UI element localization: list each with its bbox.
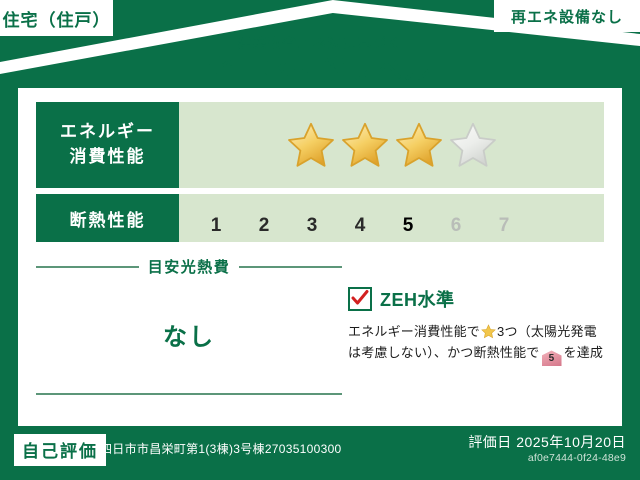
zeh-desc-part1: エネルギー消費性能で <box>348 324 480 339</box>
zeh-desc-star-count: 3つ（太陽光発電 <box>497 324 597 339</box>
zeh-desc-part3: を達成 <box>564 345 604 360</box>
heading-rule-right <box>239 266 342 268</box>
renewable-energy-tag: 再エネ設備なし <box>494 0 640 32</box>
insulation-step-3: 3 <box>289 202 335 238</box>
insulation-step-label: 6 <box>451 216 462 235</box>
star-icon-filled <box>287 121 335 169</box>
insulation-step-label: 4 <box>355 216 366 235</box>
label-title-block: 建築物省エネ法に基づく 省エネ性能ラベル <box>0 36 640 87</box>
energy-label-card: 住宅（住戸） 再エネ設備なし 建築物省エネ法に基づく 省エネ性能ラベル エネルギ… <box>0 0 640 480</box>
footer: 自己評価 四日市市昌栄町第1(3棟)3号棟27035100300 評価日 202… <box>0 426 640 480</box>
zeh-description: エネルギー消費性能で3つ（太陽光発電は考慮しない）、かつ断熱性能で5を達成 <box>348 321 616 366</box>
main-panel: エネルギー 消費性能 断熱性能 1234567 目安光熱費 なし <box>18 88 622 426</box>
insulation-step-1: 1 <box>193 202 239 238</box>
zeh-desc-part2: は考慮しない）、かつ断熱性能で <box>348 345 540 360</box>
zeh-checkbox[interactable] <box>348 287 372 311</box>
star-icon-empty <box>449 121 497 169</box>
evaluation-date: 評価日 2025年10月20日 <box>468 432 626 452</box>
utility-cost-section: 目安光熱費 なし <box>36 256 342 408</box>
heading-rule-left <box>36 266 139 268</box>
insulation-step-label: 1 <box>211 216 222 235</box>
star-rating <box>287 121 497 169</box>
insulation-row: 断熱性能 1234567 <box>36 194 604 242</box>
utility-cost-value: なし <box>36 317 342 352</box>
energy-consumption-label-line1: エネルギー <box>60 120 155 145</box>
insulation-step-label: 2 <box>259 216 270 235</box>
insulation-step-7: 7 <box>481 202 527 238</box>
star-icon-filled <box>395 121 443 169</box>
utility-cost-heading-row: 目安光熱費 <box>36 256 342 277</box>
energy-consumption-label-line2: 消費性能 <box>70 145 146 170</box>
insulation-step-label: 5 <box>403 216 414 235</box>
insulation-step-5: 5 <box>385 198 431 238</box>
energy-consumption-value <box>179 102 604 188</box>
insulation-step-6: 6 <box>433 202 479 238</box>
evaluation-id: af0e7444-0f24-48e9 <box>528 452 626 464</box>
utility-cost-heading: 目安光熱費 <box>148 256 231 277</box>
building-type-tag: 住宅（住戸） <box>0 0 113 36</box>
insulation-step-scale: 1234567 <box>193 198 527 238</box>
utility-cost-bottom-rule <box>36 393 342 395</box>
zeh-title: ZEH水準 <box>380 286 455 312</box>
energy-consumption-row: エネルギー 消費性能 <box>36 102 604 188</box>
zeh-desc-step-badge: 5 <box>542 350 562 366</box>
check-icon <box>351 289 369 307</box>
property-address: 四日市市昌栄町第1(3棟)3号棟27035100300 <box>100 440 342 457</box>
insulation-label: 断熱性能 <box>36 194 179 242</box>
insulation-step-label: 7 <box>499 216 510 235</box>
zeh-desc-step-value: 5 <box>542 350 562 368</box>
self-evaluation-badge: 自己評価 <box>14 434 106 466</box>
insulation-value: 1234567 <box>179 194 604 242</box>
page-title: 省エネ性能ラベル <box>0 54 640 87</box>
label-subtitle: 建築物省エネ法に基づく <box>0 36 640 52</box>
zeh-heading-row: ZEH水準 <box>348 286 616 312</box>
energy-consumption-label: エネルギー 消費性能 <box>36 102 179 188</box>
insulation-step-4: 4 <box>337 202 383 238</box>
star-icon-filled <box>341 121 389 169</box>
insulation-step-2: 2 <box>241 202 287 238</box>
insulation-step-label: 3 <box>307 216 318 235</box>
star-icon <box>481 324 496 339</box>
zeh-section: ZEH水準 エネルギー消費性能で3つ（太陽光発電は考慮しない）、かつ断熱性能で5… <box>348 286 616 366</box>
